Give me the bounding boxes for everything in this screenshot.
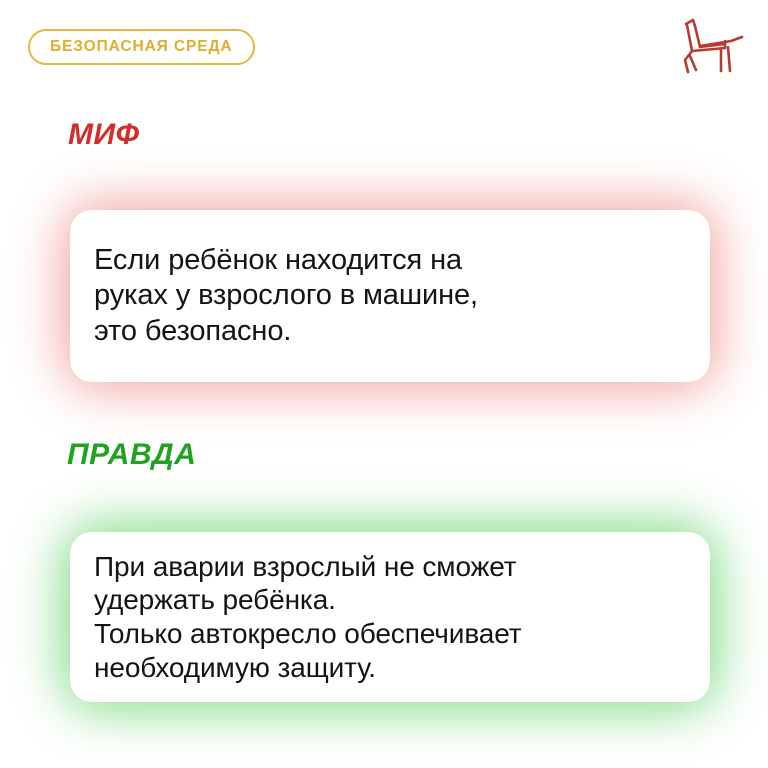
brand-badge: БЕЗОПАСНАЯ СРЕДА bbox=[28, 29, 255, 65]
horse-line-art-icon bbox=[676, 14, 748, 76]
section-heading-myth: МИФ bbox=[68, 118, 140, 152]
myth-card: Если ребёнок находится на руках у взросл… bbox=[70, 210, 710, 382]
truth-card: При аварии взрослый не сможет удержать р… bbox=[70, 532, 710, 702]
infographic-page: БЕЗОПАСНАЯ СРЕДА МИФ Если bbox=[0, 0, 768, 768]
myth-card-text: Если ребёнок находится на руках у взросл… bbox=[94, 243, 478, 349]
truth-card-text: При аварии взрослый не сможет удержать р… bbox=[94, 550, 522, 684]
section-heading-truth: ПРАВДА bbox=[67, 438, 196, 472]
